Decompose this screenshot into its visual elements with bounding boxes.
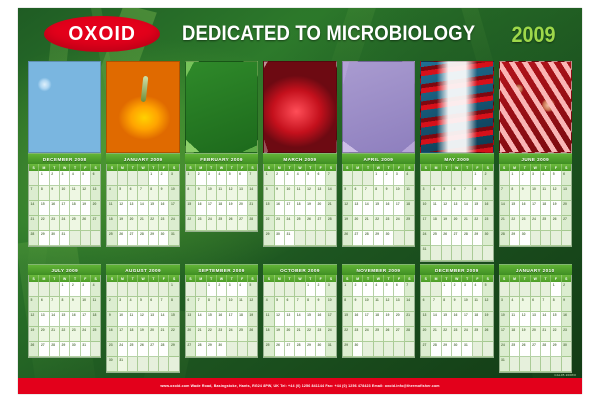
calendar-day-cell[interactable]: 29 (39, 231, 49, 246)
calendar-day-cell[interactable]: 2 (70, 282, 80, 297)
calendar-day-cell[interactable]: 24 (363, 327, 373, 342)
calendar-day-cell[interactable]: 22 (264, 216, 274, 231)
calendar-day-cell[interactable]: 31 (169, 231, 178, 246)
calendar-day-cell[interactable]: 1 (169, 282, 178, 297)
calendar-day-cell[interactable]: 15 (306, 312, 316, 327)
calendar-day-cell[interactable]: 20 (421, 327, 431, 342)
calendar-day-cell[interactable]: 2 (483, 171, 492, 186)
calendar-day-cell[interactable]: 2 (520, 171, 530, 186)
calendar-day-cell[interactable]: 27 (421, 342, 431, 357)
calendar-day-cell[interactable]: 25 (374, 327, 384, 342)
calendar-day-cell[interactable]: 24 (394, 216, 404, 231)
calendar-day-cell[interactable]: 23 (50, 216, 60, 231)
calendar-day-cell[interactable]: 4 (264, 297, 274, 312)
calendar-day-cell[interactable]: 6 (39, 297, 49, 312)
calendar-day-cell[interactable]: 30 (316, 342, 326, 357)
calendar-day-cell[interactable]: 5 (483, 282, 492, 297)
calendar-day-cell[interactable]: 28 (326, 216, 335, 231)
calendar-day-cell[interactable]: 14 (138, 201, 148, 216)
calendar-day-cell[interactable]: 3 (285, 171, 295, 186)
calendar-day-cell[interactable]: 18 (217, 201, 227, 216)
calendar-day-cell[interactable]: 31 (285, 231, 295, 246)
calendar-day-cell[interactable]: 8 (186, 186, 196, 201)
calendar-day-cell[interactable]: 29 (149, 231, 159, 246)
calendar-month-column[interactable]: OCTOBER 2009SMTWTFS123456789101112131415… (263, 264, 336, 373)
calendar-day-cell[interactable]: 17 (326, 312, 335, 327)
calendar-day-cell[interactable]: 3 (531, 171, 541, 186)
calendar-month-column[interactable]: JUNE 2009SMTWTFS123456789101112131415161… (499, 153, 572, 262)
calendar-day-cell[interactable]: 1 (442, 282, 452, 297)
calendar-day-cell[interactable]: 18 (374, 312, 384, 327)
calendar-day-cell[interactable]: 23 (107, 342, 117, 357)
calendar-day-cell[interactable]: 8 (343, 297, 353, 312)
calendar-day-cell[interactable]: 23 (562, 327, 571, 342)
calendar-day-cell[interactable]: 18 (510, 327, 520, 342)
calendar-day-cell[interactable]: 28 (541, 342, 551, 357)
calendar-day-cell[interactable]: 18 (264, 327, 274, 342)
calendar-day-cell[interactable]: 30 (520, 231, 530, 246)
calendar-day-cell[interactable]: 28 (138, 231, 148, 246)
calendar-day-cell[interactable]: 15 (186, 201, 196, 216)
calendar-day-cell[interactable]: 11 (541, 186, 551, 201)
calendar-day-cell[interactable]: 5 (306, 171, 316, 186)
calendar-day-cell[interactable]: 13 (353, 201, 363, 216)
calendar-day-cell[interactable]: 20 (128, 216, 138, 231)
calendar-day-cell[interactable]: 19 (520, 327, 530, 342)
calendar-day-cell[interactable]: 30 (159, 231, 169, 246)
calendar-day-cell[interactable]: 18 (541, 201, 551, 216)
calendar-day-cell[interactable]: 29 (306, 342, 316, 357)
calendar-day-cell[interactable]: 19 (138, 327, 148, 342)
calendar-day-cell[interactable]: 18 (107, 216, 117, 231)
calendar-day-cell[interactable]: 31 (326, 342, 335, 357)
calendar-day-cell[interactable]: 1 (374, 171, 384, 186)
calendar-day-cell[interactable]: 17 (60, 201, 70, 216)
calendar-day-cell[interactable]: 19 (29, 327, 39, 342)
calendar-day-cell[interactable]: 1 (149, 171, 159, 186)
calendar-day-cell[interactable]: 15 (343, 312, 353, 327)
calendar-day-cell[interactable]: 4 (91, 282, 100, 297)
calendar-day-cell[interactable]: 1 (306, 282, 316, 297)
calendar-month-column[interactable]: MARCH 2009SMTWTFS12345678910111213141516… (263, 153, 336, 262)
calendar-day-cell[interactable]: 28 (159, 342, 169, 357)
calendar-day-cell[interactable]: 18 (295, 201, 305, 216)
calendar-day-cell[interactable]: 8 (60, 297, 70, 312)
calendar-day-cell[interactable]: 10 (363, 297, 373, 312)
calendar-day-cell[interactable]: 22 (149, 216, 159, 231)
calendar-day-cell[interactable]: 18 (473, 312, 483, 327)
calendar-day-cell[interactable]: 12 (248, 297, 257, 312)
calendar-day-cell[interactable]: 4 (107, 186, 117, 201)
calendar-day-cell[interactable]: 10 (285, 186, 295, 201)
calendar-day-cell[interactable]: 1 (186, 171, 196, 186)
calendar-day-cell[interactable]: 4 (431, 186, 441, 201)
calendar-day-cell[interactable]: 29 (473, 231, 483, 246)
calendar-day-cell[interactable]: 15 (374, 201, 384, 216)
calendar-day-cell[interactable]: 11 (107, 201, 117, 216)
calendar-day-cell[interactable]: 8 (149, 186, 159, 201)
calendar-day-cell[interactable]: 9 (196, 186, 206, 201)
calendar-day-cell[interactable]: 9 (483, 186, 492, 201)
calendar-day-cell[interactable]: 20 (531, 327, 541, 342)
calendar-day-cell[interactable]: 27 (128, 231, 138, 246)
calendar-day-cell[interactable]: 4 (374, 282, 384, 297)
calendar-day-cell[interactable]: 17 (363, 312, 373, 327)
calendar-day-cell[interactable]: 17 (227, 312, 237, 327)
calendar-day-cell[interactable]: 7 (405, 282, 414, 297)
calendar-day-cell[interactable]: 30 (217, 342, 227, 357)
calendar-day-cell[interactable]: 7 (431, 297, 441, 312)
calendar-day-cell[interactable]: 19 (248, 312, 257, 327)
calendar-day-cell[interactable]: 3 (500, 297, 510, 312)
calendar-day-cell[interactable]: 11 (128, 312, 138, 327)
calendar-day-cell[interactable]: 18 (70, 201, 80, 216)
calendar-day-cell[interactable]: 15 (264, 201, 274, 216)
calendar-day-cell[interactable]: 10 (500, 312, 510, 327)
calendar-day-cell[interactable]: 9 (159, 186, 169, 201)
calendar-day-cell[interactable]: 28 (405, 327, 414, 342)
calendar-day-cell[interactable]: 19 (118, 216, 128, 231)
calendar-day-cell[interactable]: 14 (50, 312, 60, 327)
calendar-day-cell[interactable]: 26 (248, 327, 257, 342)
calendar-month-column[interactable]: FEBRUARY 2009SMTWTFS12345678910111213141… (185, 153, 258, 262)
calendar-day-cell[interactable]: 21 (29, 216, 39, 231)
calendar-day-cell[interactable]: 9 (70, 297, 80, 312)
calendar-day-cell[interactable]: 13 (562, 186, 571, 201)
calendar-day-cell[interactable]: 21 (462, 216, 472, 231)
calendar-day-cell[interactable]: 14 (29, 201, 39, 216)
calendar-day-cell[interactable]: 17 (169, 201, 178, 216)
calendar-day-cell[interactable]: 23 (316, 327, 326, 342)
calendar-day-cell[interactable]: 5 (551, 171, 561, 186)
calendar-day-cell[interactable]: 16 (520, 201, 530, 216)
calendar-day-cell[interactable]: 27 (149, 342, 159, 357)
calendar-day-cell[interactable]: 27 (562, 216, 571, 231)
calendar-day-cell[interactable]: 19 (442, 216, 452, 231)
calendar-day-cell[interactable]: 10 (326, 297, 335, 312)
calendar-day-cell[interactable]: 8 (39, 186, 49, 201)
calendar-day-cell[interactable]: 11 (295, 186, 305, 201)
calendar-day-cell[interactable]: 22 (207, 327, 217, 342)
calendar-day-cell[interactable]: 28 (196, 342, 206, 357)
calendar-day-cell[interactable]: 23 (353, 327, 363, 342)
calendar-day-cell[interactable]: 3 (394, 171, 404, 186)
calendar-day-cell[interactable]: 19 (343, 216, 353, 231)
calendar-day-cell[interactable]: 29 (510, 231, 520, 246)
calendar-day-cell[interactable]: 3 (462, 282, 472, 297)
calendar-day-cell[interactable]: 17 (500, 327, 510, 342)
calendar-day-cell[interactable]: 9 (520, 186, 530, 201)
calendar-day-cell[interactable]: 30 (275, 231, 285, 246)
calendar-day-cell[interactable]: 10 (81, 297, 91, 312)
calendar-day-cell[interactable]: 30 (353, 342, 363, 357)
calendar-day-cell[interactable]: 2 (353, 282, 363, 297)
calendar-day-cell[interactable]: 3 (421, 186, 431, 201)
calendar-day-cell[interactable]: 14 (196, 312, 206, 327)
calendar-day-cell[interactable]: 20 (186, 327, 196, 342)
calendar-day-cell[interactable]: 29 (374, 231, 384, 246)
calendar-day-cell[interactable]: 14 (500, 201, 510, 216)
calendar-day-cell[interactable]: 27 (531, 342, 541, 357)
calendar-day-cell[interactable]: 23 (196, 216, 206, 231)
calendar-day-cell[interactable]: 12 (343, 201, 353, 216)
calendar-month-column[interactable]: SEPTEMBER 2009SMTWTFS1234567891011121314… (185, 264, 258, 373)
calendar-day-cell[interactable]: 7 (363, 186, 373, 201)
calendar-day-cell[interactable]: 6 (452, 186, 462, 201)
calendar-day-cell[interactable]: 21 (248, 201, 257, 216)
calendar-day-cell[interactable]: 4 (217, 171, 227, 186)
calendar-day-cell[interactable]: 14 (295, 312, 305, 327)
calendar-month-column[interactable]: NOVEMBER 2009SMTWTFS12345678910111213141… (342, 264, 415, 373)
calendar-day-cell[interactable]: 14 (541, 312, 551, 327)
calendar-day-cell[interactable]: 24 (531, 216, 541, 231)
calendar-day-cell[interactable]: 6 (285, 297, 295, 312)
calendar-day-cell[interactable]: 12 (551, 186, 561, 201)
calendar-day-cell[interactable]: 8 (306, 297, 316, 312)
calendar-day-cell[interactable]: 29 (264, 231, 274, 246)
calendar-day-cell[interactable]: 20 (149, 327, 159, 342)
calendar-day-cell[interactable]: 14 (405, 297, 414, 312)
calendar-day-cell[interactable]: 23 (275, 216, 285, 231)
calendar-day-cell[interactable]: 11 (217, 186, 227, 201)
calendar-day-cell[interactable]: 7 (295, 297, 305, 312)
calendar-day-cell[interactable]: 24 (285, 216, 295, 231)
calendar-day-cell[interactable]: 4 (295, 171, 305, 186)
calendar-day-cell[interactable]: 5 (275, 297, 285, 312)
calendar-day-cell[interactable]: 15 (149, 201, 159, 216)
calendar-day-cell[interactable]: 18 (91, 312, 100, 327)
calendar-day-cell[interactable]: 8 (374, 186, 384, 201)
calendar-day-cell[interactable]: 22 (343, 327, 353, 342)
calendar-day-cell[interactable]: 31 (118, 357, 128, 372)
calendar-day-cell[interactable]: 26 (138, 342, 148, 357)
calendar-day-cell[interactable]: 3 (363, 282, 373, 297)
calendar-day-cell[interactable]: 12 (520, 312, 530, 327)
calendar-day-cell[interactable]: 5 (442, 186, 452, 201)
calendar-day-cell[interactable]: 31 (81, 342, 91, 357)
calendar-day-cell[interactable]: 19 (275, 327, 285, 342)
calendar-day-cell[interactable]: 4 (128, 297, 138, 312)
calendar-day-cell[interactable]: 6 (562, 171, 571, 186)
calendar-day-cell[interactable]: 27 (91, 216, 100, 231)
calendar-day-cell[interactable]: 13 (285, 312, 295, 327)
calendar-day-cell[interactable]: 21 (196, 327, 206, 342)
calendar-day-cell[interactable]: 5 (81, 171, 91, 186)
calendar-day-cell[interactable]: 9 (217, 297, 227, 312)
calendar-day-cell[interactable]: 2 (452, 282, 462, 297)
calendar-day-cell[interactable]: 16 (562, 312, 571, 327)
calendar-day-cell[interactable]: 6 (238, 171, 248, 186)
calendar-day-cell[interactable]: 12 (118, 201, 128, 216)
calendar-day-cell[interactable]: 20 (285, 327, 295, 342)
calendar-day-cell[interactable]: 25 (217, 216, 227, 231)
calendar-day-cell[interactable]: 2 (316, 282, 326, 297)
calendar-day-cell[interactable]: 22 (169, 327, 178, 342)
calendar-month-column[interactable]: JANUARY 2010SMTWTFS123456789101112131415… (499, 264, 572, 373)
calendar-day-cell[interactable]: 9 (384, 186, 394, 201)
calendar-day-cell[interactable]: 17 (118, 327, 128, 342)
calendar-day-cell[interactable]: 22 (551, 327, 561, 342)
calendar-day-cell[interactable]: 23 (384, 216, 394, 231)
calendar-day-cell[interactable]: 23 (159, 216, 169, 231)
calendar-day-cell[interactable]: 3 (326, 282, 335, 297)
calendar-day-cell[interactable]: 26 (275, 342, 285, 357)
calendar-day-cell[interactable]: 8 (264, 186, 274, 201)
calendar-day-cell[interactable]: 25 (541, 216, 551, 231)
calendar-day-cell[interactable]: 22 (510, 216, 520, 231)
calendar-day-cell[interactable]: 24 (326, 327, 335, 342)
calendar-day-cell[interactable]: 24 (118, 342, 128, 357)
calendar-day-cell[interactable]: 6 (421, 297, 431, 312)
calendar-day-cell[interactable]: 1 (264, 171, 274, 186)
calendar-day-cell[interactable]: 5 (343, 186, 353, 201)
calendar-day-cell[interactable]: 21 (326, 201, 335, 216)
calendar-month-column[interactable]: JULY 2009SMTWTFS123456789101112131415161… (28, 264, 101, 373)
calendar-day-cell[interactable]: 3 (207, 171, 217, 186)
calendar-day-cell[interactable]: 28 (462, 231, 472, 246)
calendar-day-cell[interactable]: 23 (70, 327, 80, 342)
calendar-day-cell[interactable]: 26 (118, 231, 128, 246)
calendar-day-cell[interactable]: 28 (248, 216, 257, 231)
calendar-month-column[interactable]: DECEMBER 2008SMTWTFS12345678910111213141… (28, 153, 101, 262)
calendar-day-cell[interactable]: 30 (107, 357, 117, 372)
calendar-day-cell[interactable]: 25 (405, 216, 414, 231)
calendar-day-cell[interactable]: 12 (384, 297, 394, 312)
calendar-day-cell[interactable]: 1 (207, 282, 217, 297)
calendar-day-cell[interactable]: 26 (343, 231, 353, 246)
calendar-day-cell[interactable]: 25 (473, 327, 483, 342)
calendar-day-cell[interactable]: 26 (520, 342, 530, 357)
calendar-day-cell[interactable]: 25 (128, 342, 138, 357)
calendar-day-cell[interactable]: 15 (60, 312, 70, 327)
calendar-day-cell[interactable]: 16 (316, 312, 326, 327)
calendar-day-cell[interactable]: 29 (343, 342, 353, 357)
calendar-day-cell[interactable]: 7 (138, 186, 148, 201)
calendar-day-cell[interactable]: 17 (394, 201, 404, 216)
calendar-day-cell[interactable]: 26 (384, 327, 394, 342)
calendar-day-cell[interactable]: 2 (275, 171, 285, 186)
calendar-day-cell[interactable]: 1 (510, 171, 520, 186)
calendar-day-cell[interactable]: 23 (217, 327, 227, 342)
calendar-day-cell[interactable]: 12 (275, 312, 285, 327)
calendar-day-cell[interactable]: 21 (431, 327, 441, 342)
calendar-day-cell[interactable]: 8 (207, 297, 217, 312)
calendar-day-cell[interactable]: 26 (551, 216, 561, 231)
calendar-day-cell[interactable]: 5 (29, 297, 39, 312)
calendar-day-cell[interactable]: 15 (39, 201, 49, 216)
calendar-month-column[interactable]: AUGUST 2009SMTWTFS1234567891011121314151… (106, 264, 179, 373)
calendar-day-cell[interactable]: 12 (483, 297, 492, 312)
calendar-day-cell[interactable]: 10 (421, 201, 431, 216)
calendar-day-cell[interactable]: 9 (452, 297, 462, 312)
calendar-day-cell[interactable]: 13 (531, 312, 541, 327)
calendar-day-cell[interactable]: 21 (500, 216, 510, 231)
calendar-day-cell[interactable]: 22 (473, 216, 483, 231)
calendar-day-cell[interactable]: 27 (238, 216, 248, 231)
calendar-day-cell[interactable]: 20 (39, 327, 49, 342)
calendar-day-cell[interactable]: 9 (353, 297, 363, 312)
calendar-day-cell[interactable]: 23 (452, 327, 462, 342)
calendar-day-cell[interactable]: 1 (60, 282, 70, 297)
calendar-day-cell[interactable]: 13 (91, 186, 100, 201)
calendar-day-cell[interactable]: 14 (248, 186, 257, 201)
calendar-day-cell[interactable]: 4 (541, 171, 551, 186)
calendar-day-cell[interactable]: 26 (442, 231, 452, 246)
calendar-day-cell[interactable]: 29 (442, 342, 452, 357)
calendar-day-cell[interactable]: 2 (217, 282, 227, 297)
calendar-day-cell[interactable]: 10 (394, 186, 404, 201)
calendar-day-cell[interactable]: 24 (81, 327, 91, 342)
calendar-day-cell[interactable]: 31 (500, 357, 510, 372)
calendar-day-cell[interactable]: 9 (107, 312, 117, 327)
calendar-day-cell[interactable]: 13 (421, 312, 431, 327)
calendar-month-column[interactable]: MAY 2009SMTWTFS1234567891011121314151617… (420, 153, 493, 262)
calendar-day-cell[interactable]: 26 (29, 342, 39, 357)
calendar-day-cell[interactable]: 22 (306, 327, 316, 342)
calendar-day-cell[interactable]: 2 (107, 297, 117, 312)
calendar-day-cell[interactable]: 1 (473, 171, 483, 186)
calendar-day-cell[interactable]: 25 (295, 216, 305, 231)
calendar-day-cell[interactable]: 22 (442, 327, 452, 342)
calendar-day-cell[interactable]: 10 (169, 186, 178, 201)
calendar-day-cell[interactable]: 16 (483, 201, 492, 216)
calendar-day-cell[interactable]: 28 (50, 342, 60, 357)
calendar-day-cell[interactable]: 20 (562, 201, 571, 216)
calendar-day-cell[interactable]: 30 (483, 231, 492, 246)
calendar-day-cell[interactable]: 15 (169, 312, 178, 327)
calendar-day-cell[interactable]: 5 (384, 282, 394, 297)
calendar-day-cell[interactable]: 31 (462, 342, 472, 357)
calendar-day-cell[interactable]: 11 (91, 297, 100, 312)
calendar-day-cell[interactable]: 15 (551, 312, 561, 327)
calendar-day-cell[interactable]: 2 (384, 171, 394, 186)
calendar-day-cell[interactable]: 7 (462, 186, 472, 201)
calendar-day-cell[interactable]: 7 (248, 171, 257, 186)
calendar-day-cell[interactable]: 28 (29, 231, 39, 246)
calendar-day-cell[interactable]: 3 (118, 297, 128, 312)
calendar-day-cell[interactable]: 19 (483, 312, 492, 327)
calendar-day-cell[interactable]: 1 (39, 171, 49, 186)
calendar-day-cell[interactable]: 21 (295, 327, 305, 342)
calendar-day-cell[interactable]: 19 (551, 201, 561, 216)
calendar-day-cell[interactable]: 21 (405, 312, 414, 327)
calendar-day-cell[interactable]: 11 (473, 297, 483, 312)
calendar-day-cell[interactable]: 19 (227, 201, 237, 216)
calendar-day-cell[interactable]: 26 (306, 216, 316, 231)
calendar-day-cell[interactable]: 18 (238, 312, 248, 327)
calendar-day-cell[interactable]: 18 (128, 327, 138, 342)
calendar-day-cell[interactable]: 11 (238, 297, 248, 312)
calendar-day-cell[interactable]: 1 (551, 282, 561, 297)
calendar-day-cell[interactable]: 21 (138, 216, 148, 231)
calendar-day-cell[interactable]: 16 (70, 312, 80, 327)
calendar-day-cell[interactable]: 8 (442, 297, 452, 312)
calendar-day-cell[interactable]: 4 (70, 171, 80, 186)
calendar-day-cell[interactable]: 16 (159, 201, 169, 216)
calendar-day-cell[interactable]: 2 (159, 171, 169, 186)
calendar-day-cell[interactable]: 24 (500, 342, 510, 357)
calendar-day-cell[interactable]: 21 (50, 327, 60, 342)
calendar-day-cell[interactable]: 7 (196, 297, 206, 312)
calendar-day-cell[interactable]: 17 (421, 216, 431, 231)
calendar-day-cell[interactable]: 6 (353, 186, 363, 201)
calendar-day-cell[interactable]: 20 (316, 201, 326, 216)
calendar-day-cell[interactable]: 27 (452, 231, 462, 246)
calendar-day-cell[interactable]: 14 (431, 312, 441, 327)
calendar-month-column[interactable]: APRIL 2009SMTWTFS12345678910111213141516… (342, 153, 415, 262)
calendar-day-cell[interactable]: 20 (91, 201, 100, 216)
calendar-day-cell[interactable]: 10 (462, 297, 472, 312)
